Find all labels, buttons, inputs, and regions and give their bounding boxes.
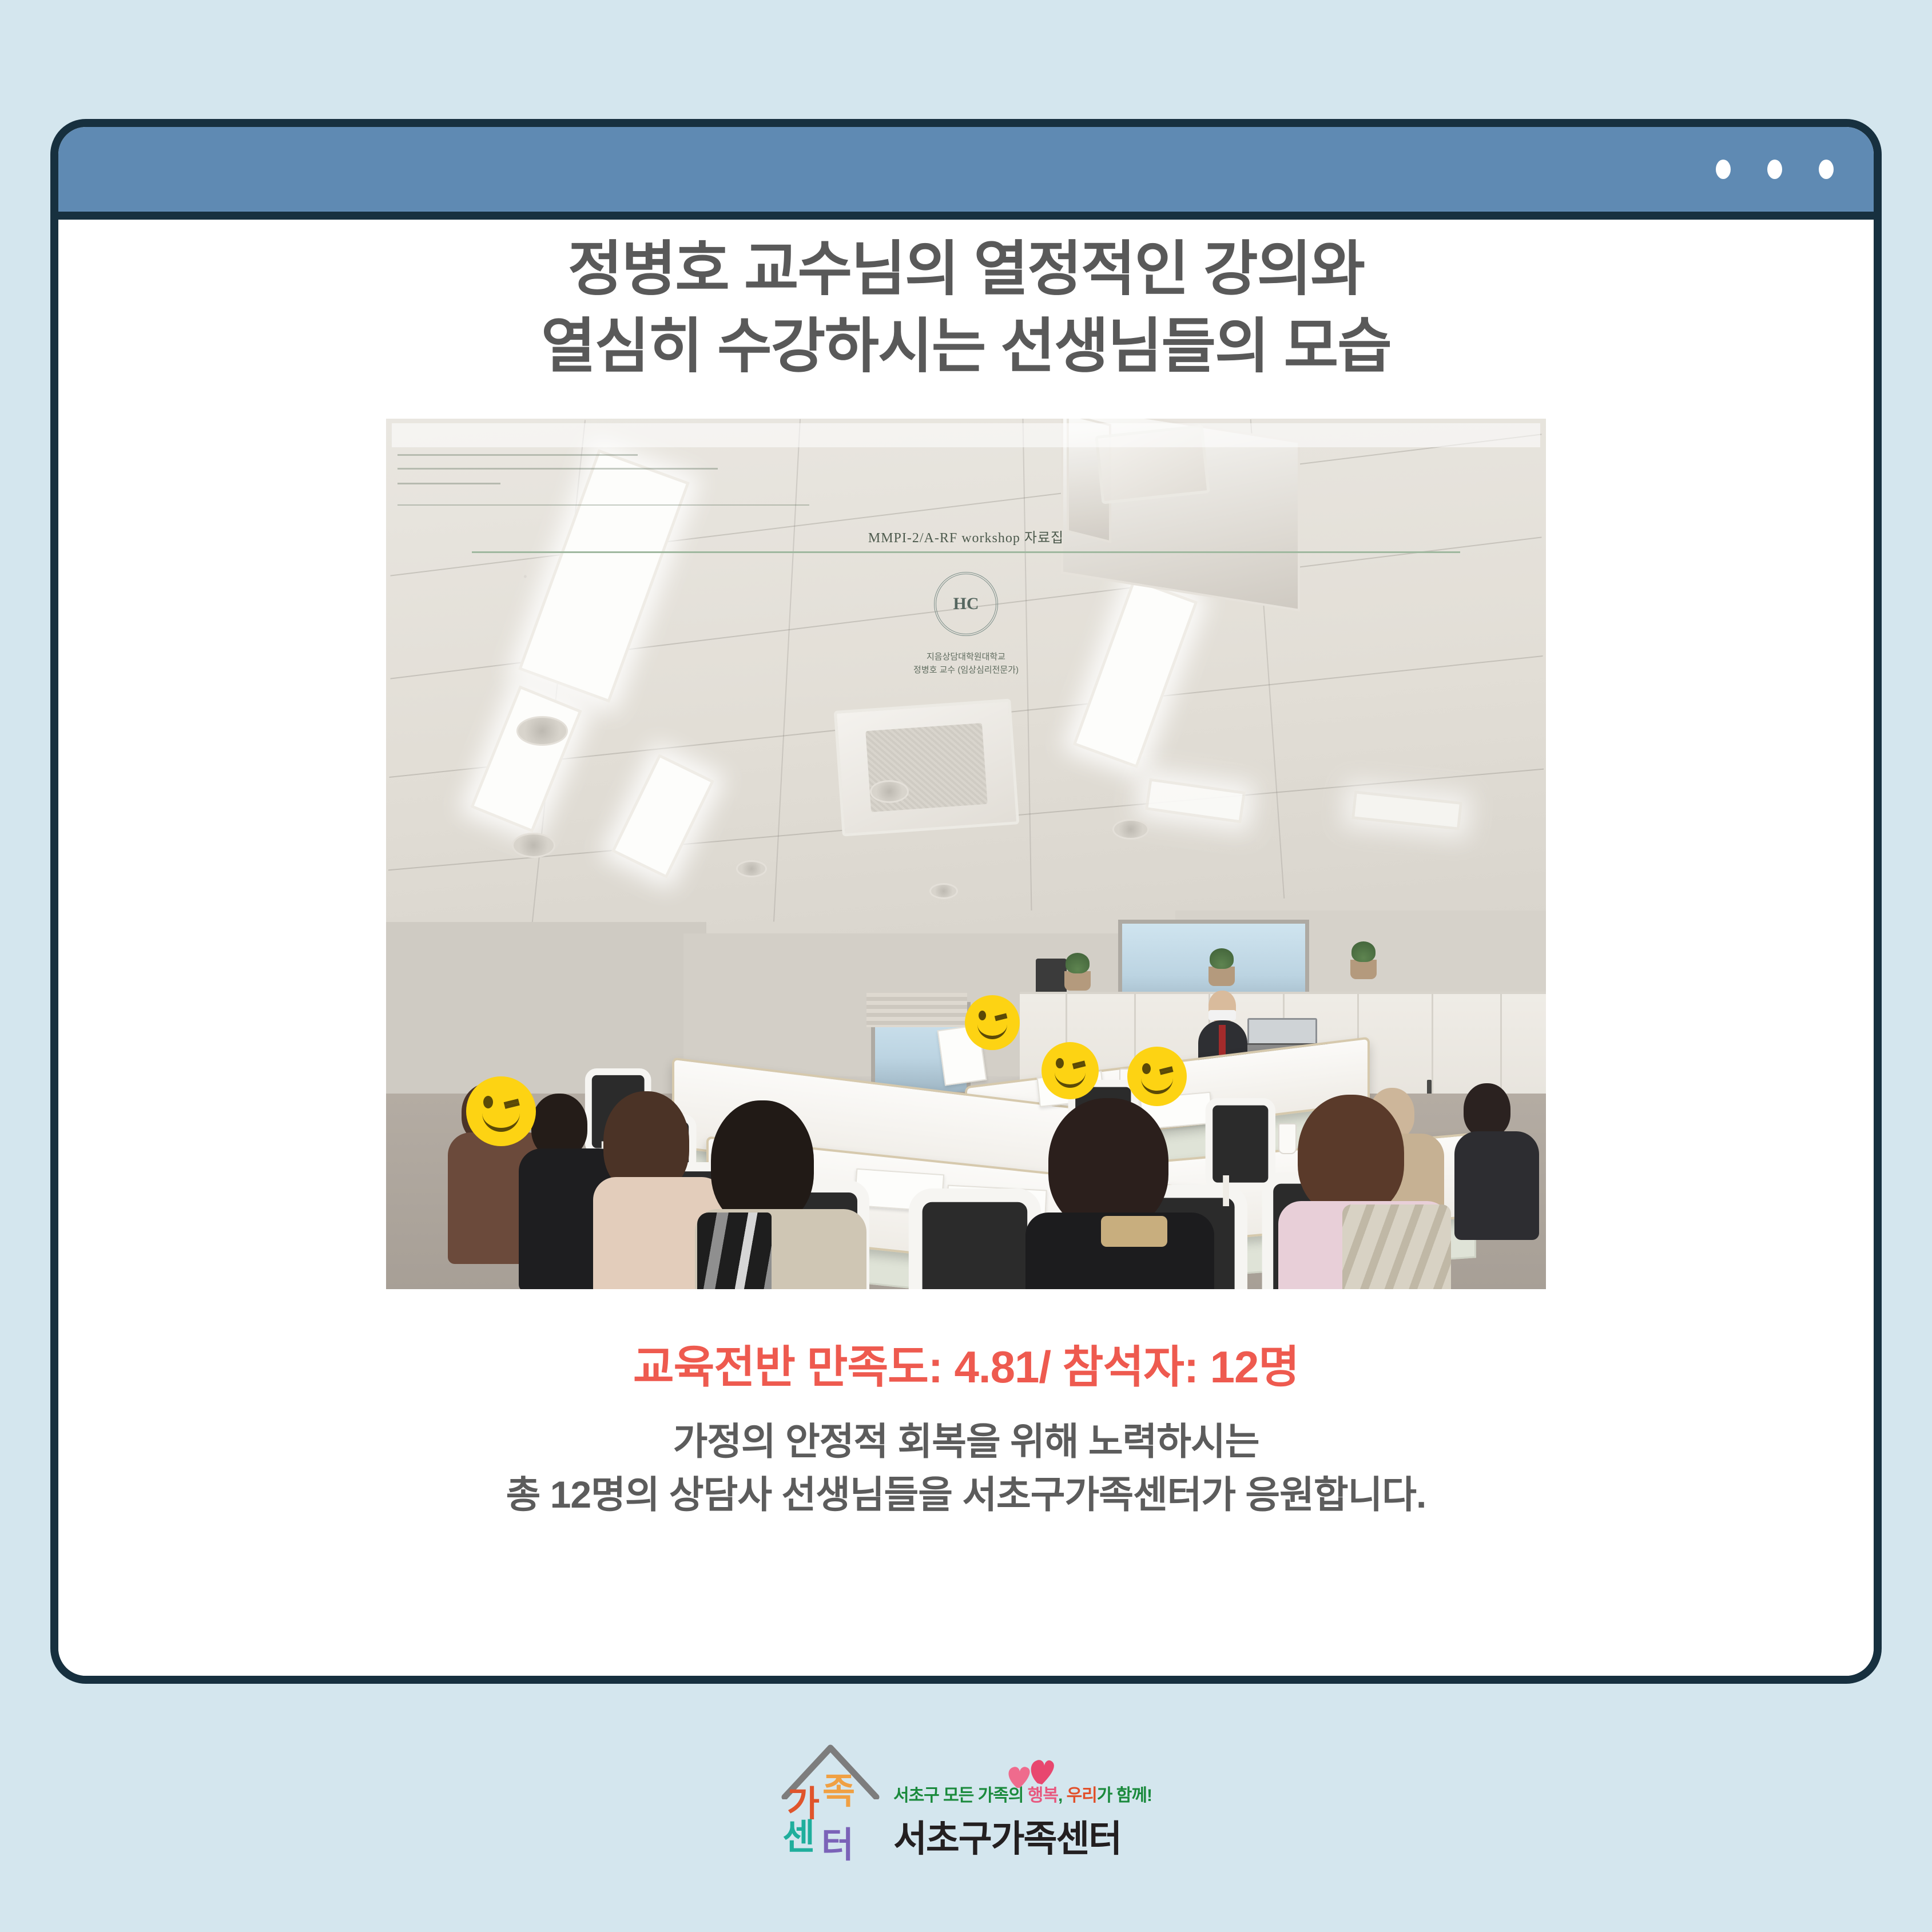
description-line-2: 총 12명의 상담사 선생님들을 서초구가족센터가 응원합니다. (58, 1468, 1874, 1521)
family-center-logo-mark: 가 족 센 터 (780, 1744, 881, 1865)
face-mask (1209, 1010, 1236, 1020)
screen-title: MMPI-2/A-RF workshop 자료집 (386, 526, 1546, 546)
logo-text-block: 서초구 모든 가족의 행복, 우리가 함께! 서초구가족센터 (893, 1781, 1152, 1865)
window-dot-3[interactable] (1819, 160, 1834, 179)
cabinet-handle[interactable] (1427, 1080, 1432, 1095)
potted-plant (1209, 967, 1235, 986)
attendee-body (1454, 1131, 1539, 1240)
attendee-head (711, 1100, 814, 1226)
window-dot-2[interactable] (1767, 160, 1782, 179)
attendee-head (1464, 1083, 1510, 1137)
ceiling-spotlight (516, 716, 568, 746)
center-name: 서초구가족센터 (893, 1810, 1152, 1862)
tagline-part-4: 우리 (1067, 1786, 1097, 1805)
necktie (1219, 1025, 1226, 1056)
smiley-face-sticker (466, 1076, 536, 1146)
logo-syllable-jok: 족 (822, 1774, 855, 1810)
university-seal-icon: HC (934, 572, 998, 636)
window-titlebar (58, 127, 1874, 220)
wall-left (386, 922, 706, 1094)
footer-logo: 가 족 센 터 서초구 모든 가족의 행복, 우리가 함께! 서초구가족센터 (0, 1744, 1932, 1865)
smiley-face-sticker (1127, 1047, 1187, 1106)
window-dot-1[interactable] (1716, 160, 1731, 179)
smiley-face-sticker (1041, 1042, 1099, 1099)
window-blind (866, 993, 967, 1027)
attendee-head (1048, 1098, 1168, 1230)
plaid-scarf (697, 1213, 772, 1289)
heart-pair-icon (1005, 1757, 1055, 1790)
content-card: 정병호 교수님의 열정적인 강의와 열심히 수강하시는 선생님들의 모습 (50, 119, 1882, 1684)
tagline-part-5: 가 함께! (1097, 1786, 1152, 1805)
milk-carton (1278, 1123, 1297, 1154)
screen-subtitle: 지음상담대학원대학교 정병호 교수 (임상심리전문가) (386, 651, 1546, 677)
potted-plant (1064, 971, 1091, 991)
neck-scarf (1101, 1216, 1167, 1247)
card-body: 정병호 교수님의 열정적인 강의와 열심히 수강하시는 선생님들의 모습 (58, 231, 1874, 1684)
tagline-part-3: , (1058, 1786, 1067, 1805)
logo-syllable-teo: 터 (821, 1828, 854, 1863)
page-title: 정병호 교수님의 열정적인 강의와 열심히 수강하시는 선생님들의 모습 (58, 231, 1874, 385)
satisfaction-stat: 교육전반 만족도: 4.81/ 참석자: 12명 (58, 1331, 1874, 1396)
browser-bar (392, 423, 1540, 447)
screen-rule (472, 551, 1460, 553)
smiley-face-sticker (965, 995, 1020, 1050)
heart-icons (1005, 1757, 1055, 1793)
window-controls (1716, 160, 1834, 179)
logo-syllable-sen: 센 (782, 1820, 815, 1855)
description-line-1: 가정의 안정적 회복을 위해 노력하시는 (58, 1415, 1874, 1468)
logo-syllable-ga: 가 (787, 1787, 820, 1822)
knit-vest (1342, 1204, 1451, 1289)
description-text: 가정의 안정적 회복을 위해 노력하시는 총 12명의 상담사 선생님들을 서초… (58, 1415, 1874, 1521)
ac-cassette (834, 699, 1020, 837)
headline-line-2: 열심히 수강하시는 선생님들의 모습 (58, 308, 1874, 385)
attendee-head (1298, 1095, 1404, 1216)
potted-plant (1350, 960, 1377, 979)
headline-line-1: 정병호 교수님의 열정적인 강의와 (58, 231, 1874, 308)
classroom-photo: MMPI-2/A-RF workshop 자료집 HC 지음상담대학원대학교 정… (386, 419, 1546, 1289)
